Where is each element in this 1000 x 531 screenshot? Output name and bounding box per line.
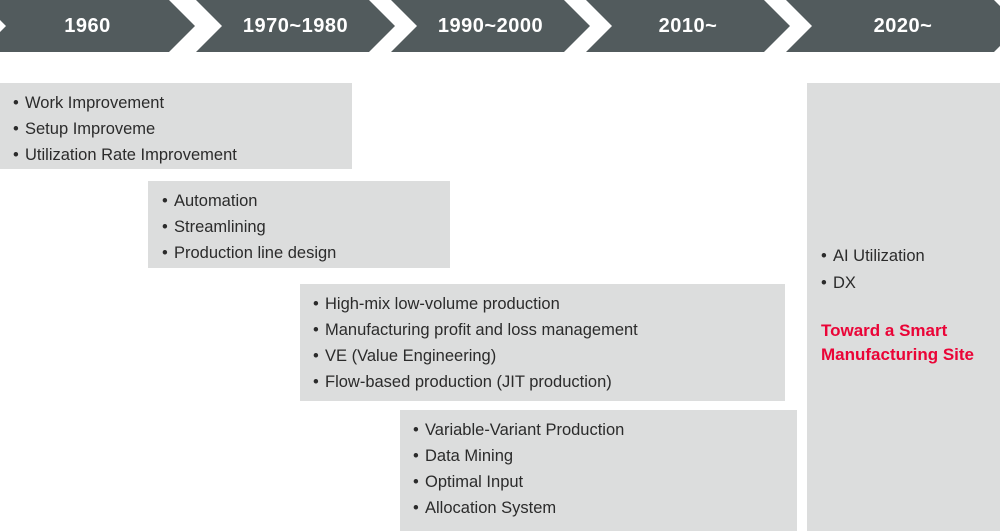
era-box-1960: Work Improvement Setup Improveme Utiliza… <box>0 83 352 169</box>
list-item: Production line design <box>162 240 450 266</box>
era-1990-list: High-mix low-volume production Manufactu… <box>313 291 785 395</box>
era-2010-list: Variable-Variant Production Data Mining … <box>413 417 797 521</box>
list-item: Automation <box>162 188 450 214</box>
list-item: Setup Improveme <box>13 116 352 142</box>
list-item: Manufacturing profit and loss management <box>313 317 785 343</box>
era-2020-content: AI Utilization DX Toward a Smart Manufac… <box>821 243 996 367</box>
list-item: DX <box>821 270 996 297</box>
list-item: Data Mining <box>413 443 797 469</box>
era-panel-2020: AI Utilization DX Toward a Smart Manufac… <box>807 83 1000 531</box>
timeline-segment-2020[interactable]: 2020~ <box>786 0 1000 52</box>
timeline-segment-label: 1970~1980 <box>243 15 348 38</box>
highlight-line-2: Manufacturing Site <box>821 343 996 367</box>
era-2020-list: AI Utilization DX <box>821 243 996 297</box>
list-item: High-mix low-volume production <box>313 291 785 317</box>
timeline-header: 1960 1970~1980 1990~2000 2010~ 2020~ <box>0 0 1000 52</box>
list-item: Streamlining <box>162 214 450 240</box>
timeline-segment-1970-1980[interactable]: 1970~1980 <box>196 0 395 52</box>
timeline-diagram: 1960 1970~1980 1990~2000 2010~ 2020~ Wor… <box>0 0 1000 531</box>
list-item: Flow-based production (JIT production) <box>313 369 785 395</box>
timeline-segment-label: 1990~2000 <box>438 15 543 38</box>
era-1960-list: Work Improvement Setup Improveme Utiliza… <box>13 90 352 168</box>
timeline-segment-label: 2010~ <box>659 15 718 38</box>
era-box-2010: Variable-Variant Production Data Mining … <box>400 410 797 531</box>
era-box-1970-1980: Automation Streamlining Production line … <box>148 181 450 268</box>
list-item: Variable-Variant Production <box>413 417 797 443</box>
list-item: Allocation System <box>413 495 797 521</box>
list-item: Work Improvement <box>13 90 352 116</box>
timeline-segment-1960[interactable]: 1960 <box>0 0 195 52</box>
timeline-segment-2010[interactable]: 2010~ <box>586 0 790 52</box>
timeline-segment-label: 2020~ <box>874 15 933 38</box>
list-item: VE (Value Engineering) <box>313 343 785 369</box>
timeline-segment-1990-2000[interactable]: 1990~2000 <box>391 0 590 52</box>
list-item: Utilization Rate Improvement <box>13 142 352 168</box>
smart-factory-highlight: Toward a Smart Manufacturing Site <box>821 319 996 367</box>
list-item: AI Utilization <box>821 243 996 270</box>
era-box-1990-2000: High-mix low-volume production Manufactu… <box>300 284 785 401</box>
era-1970-list: Automation Streamlining Production line … <box>162 188 450 266</box>
timeline-segment-label: 1960 <box>64 15 111 38</box>
highlight-line-1: Toward a Smart <box>821 319 996 343</box>
list-item: Optimal Input <box>413 469 797 495</box>
